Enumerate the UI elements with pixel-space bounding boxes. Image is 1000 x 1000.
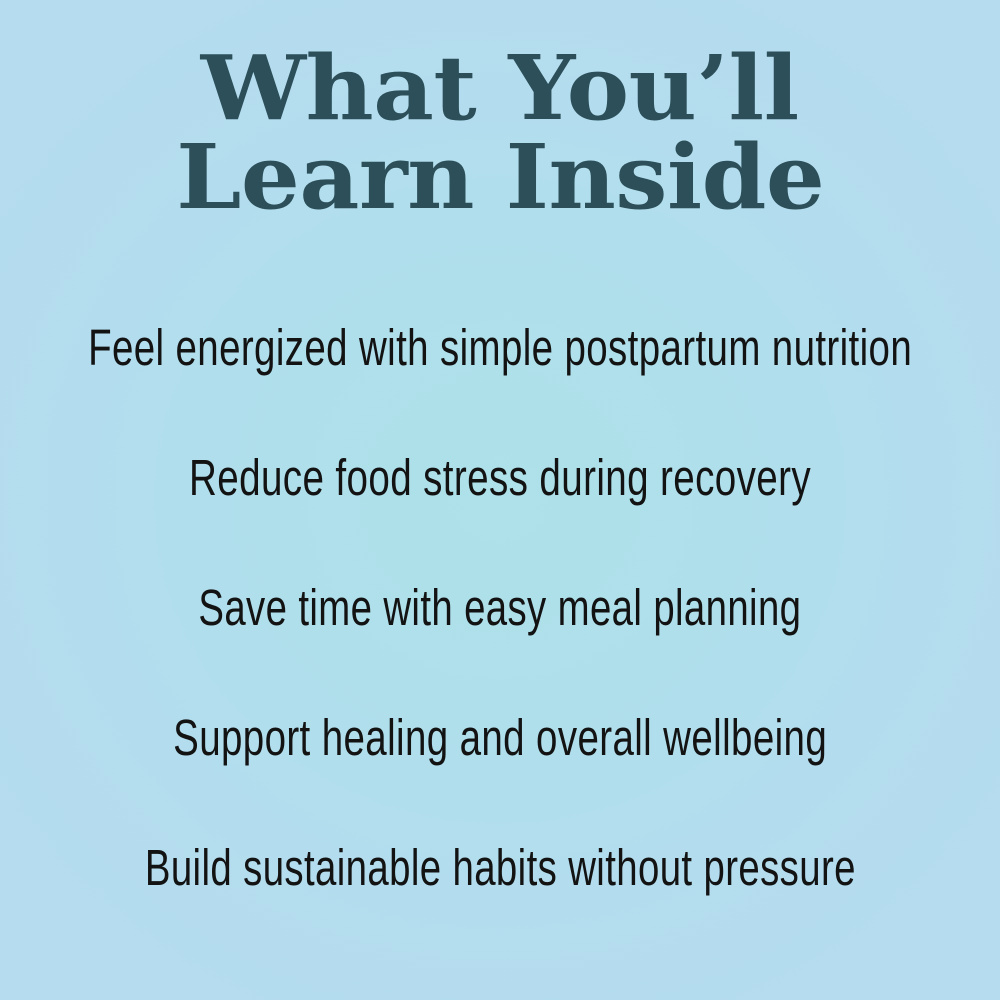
list-item: Save time with easy meal planning bbox=[0, 542, 1000, 672]
page-title-line-2: Learn Inside bbox=[176, 133, 824, 220]
benefit-label-5: Build sustainable habits without pressur… bbox=[144, 842, 855, 893]
list-item: Reduce food stress during recovery bbox=[0, 412, 1000, 542]
page-title: What You’ll Learn Inside bbox=[0, 44, 1000, 220]
benefit-label-4: Support healing and overall wellbeing bbox=[173, 712, 827, 763]
benefit-label-1: Feel energized with simple postpartum nu… bbox=[88, 322, 912, 373]
benefit-label-3: Save time with easy meal planning bbox=[199, 582, 802, 633]
promo-graphic: What You’ll Learn Inside Feel energized … bbox=[0, 0, 1000, 1000]
benefit-label-2: Reduce food stress during recovery bbox=[189, 452, 811, 503]
page-title-line-1: What You’ll bbox=[201, 44, 799, 131]
list-item: Support healing and overall wellbeing bbox=[0, 672, 1000, 802]
list-item: Feel energized with simple postpartum nu… bbox=[0, 282, 1000, 412]
benefit-list: Feel energized with simple postpartum nu… bbox=[0, 282, 1000, 932]
list-item: Build sustainable habits without pressur… bbox=[0, 802, 1000, 932]
